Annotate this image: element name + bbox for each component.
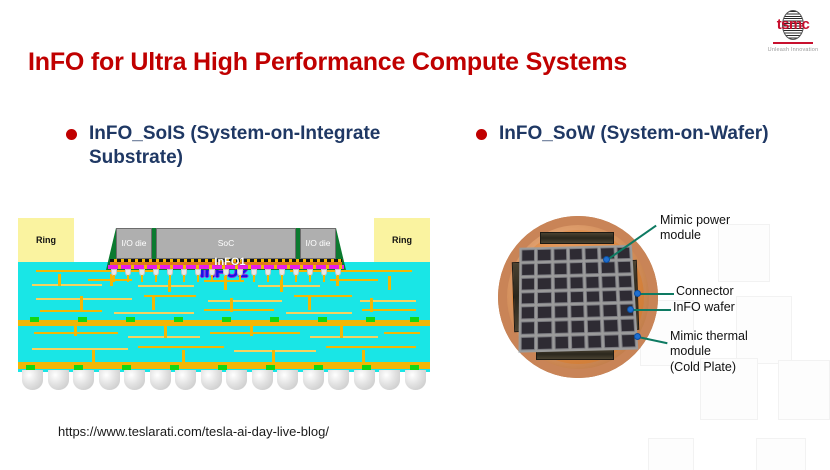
microbump bbox=[250, 269, 258, 282]
solder-ball bbox=[99, 370, 120, 390]
bga-ball-row bbox=[22, 370, 426, 392]
callout-label-connector: Connector bbox=[676, 284, 734, 299]
die-cell bbox=[537, 336, 552, 350]
slide-canvas: InFO for Ultra High Performance Compute … bbox=[0, 0, 830, 470]
soc-die: SoC bbox=[156, 228, 296, 259]
die-cell bbox=[602, 290, 617, 303]
die-cell bbox=[553, 262, 567, 275]
background-artifact bbox=[778, 360, 830, 420]
die-cell bbox=[553, 276, 567, 289]
microbump bbox=[110, 269, 118, 282]
source-url[interactable]: https://www.teslarati.com/tesla-ai-day-l… bbox=[58, 424, 329, 439]
solder-ball bbox=[201, 370, 222, 390]
heading-label-left: InFO_SoIS (System-on-Integrate Substrate… bbox=[89, 122, 396, 171]
bullet-dot-icon bbox=[476, 129, 487, 140]
callout-label-mimic-power-module: Mimic power module bbox=[660, 213, 730, 244]
heading-info-sow: InFO_SoW (System-on-Wafer) bbox=[476, 122, 796, 146]
die-cell bbox=[537, 321, 552, 335]
die-cell bbox=[618, 289, 633, 302]
die-cell bbox=[585, 248, 599, 260]
solder-ball bbox=[124, 370, 145, 390]
die-cell bbox=[537, 249, 551, 261]
die-cell bbox=[587, 335, 602, 349]
die-cell bbox=[553, 291, 567, 304]
die-cell bbox=[521, 249, 535, 261]
callout-label-mimic-thermal-module: Mimic thermal module (Cold Plate) bbox=[670, 329, 748, 375]
page-title: InFO for Ultra High Performance Compute … bbox=[28, 48, 627, 77]
die-cell bbox=[601, 261, 616, 274]
background-artifact bbox=[648, 438, 694, 470]
die-cell bbox=[521, 337, 536, 351]
logo-divider bbox=[773, 42, 813, 44]
solder-ball bbox=[22, 370, 43, 390]
die-cell bbox=[554, 336, 569, 350]
die-cell bbox=[537, 306, 552, 319]
info1-label: InFO1 bbox=[170, 256, 290, 268]
microbump bbox=[306, 269, 314, 282]
die-cell bbox=[521, 263, 535, 276]
solder-ball bbox=[354, 370, 375, 390]
microbump bbox=[124, 269, 132, 282]
tsmc-logo: tsmc Unleash Innovation bbox=[762, 10, 824, 53]
die-cell bbox=[569, 262, 583, 275]
bullet-dot-icon bbox=[66, 129, 77, 140]
solder-ball bbox=[73, 370, 94, 390]
background-artifact bbox=[756, 438, 806, 470]
solder-ball bbox=[150, 370, 171, 390]
die-array-grid bbox=[518, 245, 638, 353]
die-cell bbox=[570, 290, 585, 303]
solder-ball bbox=[175, 370, 196, 390]
die-cell bbox=[586, 305, 601, 318]
solder-ball bbox=[328, 370, 349, 390]
microbump bbox=[278, 269, 286, 282]
die-cell bbox=[570, 305, 585, 318]
heading-label-right: InFO_SoW (System-on-Wafer) bbox=[499, 122, 769, 146]
callout-leader-info-wafer bbox=[631, 309, 671, 311]
die-cell bbox=[602, 275, 617, 288]
solder-ball bbox=[277, 370, 298, 390]
logo-tagline: Unleash Innovation bbox=[762, 47, 824, 53]
ring-block-right: Ring bbox=[374, 218, 430, 262]
die-cell bbox=[537, 291, 551, 304]
microbump bbox=[222, 269, 230, 282]
solder-ball bbox=[405, 370, 426, 390]
microbump bbox=[180, 269, 188, 282]
solder-ball bbox=[226, 370, 247, 390]
microbump bbox=[320, 269, 328, 282]
die-cell bbox=[553, 248, 567, 260]
die-cell bbox=[585, 276, 600, 289]
die-cell bbox=[570, 320, 585, 334]
cross-section-diagram: Ring Ring bbox=[18, 218, 430, 393]
die-cell bbox=[554, 306, 569, 319]
microbump bbox=[194, 269, 202, 282]
callout-dot-mimic-power-module[interactable] bbox=[603, 256, 610, 263]
microbump bbox=[264, 269, 272, 282]
die-cell bbox=[586, 290, 601, 303]
ring-block-left: Ring bbox=[18, 218, 74, 262]
die-cell bbox=[537, 263, 551, 276]
die-cell bbox=[569, 248, 583, 260]
die-cell bbox=[521, 306, 535, 319]
die-cell bbox=[587, 320, 602, 334]
die-cell bbox=[521, 277, 535, 290]
die-cell bbox=[571, 335, 586, 349]
die-cell bbox=[521, 321, 536, 335]
die-cell bbox=[603, 304, 618, 317]
microbump bbox=[152, 269, 160, 282]
microbump bbox=[166, 269, 174, 282]
io-die-left: I/O die bbox=[116, 228, 152, 259]
callout-dot-connector[interactable] bbox=[634, 290, 641, 297]
microbump bbox=[236, 269, 244, 282]
solder-ball bbox=[303, 370, 324, 390]
die-cell bbox=[603, 319, 618, 333]
callout-leader-connector bbox=[638, 293, 674, 295]
die-cell bbox=[585, 261, 599, 274]
solder-ball bbox=[48, 370, 69, 390]
die-cell bbox=[604, 334, 619, 348]
connector-bar-top bbox=[540, 232, 614, 244]
die-cell bbox=[618, 275, 633, 288]
microbump bbox=[138, 269, 146, 282]
microbump bbox=[292, 269, 300, 282]
microbump-row bbox=[110, 269, 342, 282]
microbump bbox=[208, 269, 216, 282]
callout-dot-mimic-thermal-module[interactable] bbox=[634, 333, 641, 340]
tsmc-wordmark: tsmc bbox=[762, 16, 824, 33]
die-cell bbox=[569, 276, 583, 289]
die-cell bbox=[537, 277, 551, 290]
callout-dot-info-wafer[interactable] bbox=[627, 306, 634, 313]
microbump bbox=[334, 269, 342, 282]
die-cell bbox=[620, 319, 635, 333]
solder-ball bbox=[379, 370, 400, 390]
heading-info-sois: InFO_SoIS (System-on-Integrate Substrate… bbox=[66, 122, 396, 171]
callout-label-info-wafer: InFO wafer bbox=[673, 300, 735, 315]
io-die-right: I/O die bbox=[300, 228, 336, 259]
die-cell bbox=[617, 261, 632, 274]
die-cell bbox=[554, 321, 569, 335]
solder-ball bbox=[252, 370, 273, 390]
die-cell bbox=[521, 292, 535, 305]
